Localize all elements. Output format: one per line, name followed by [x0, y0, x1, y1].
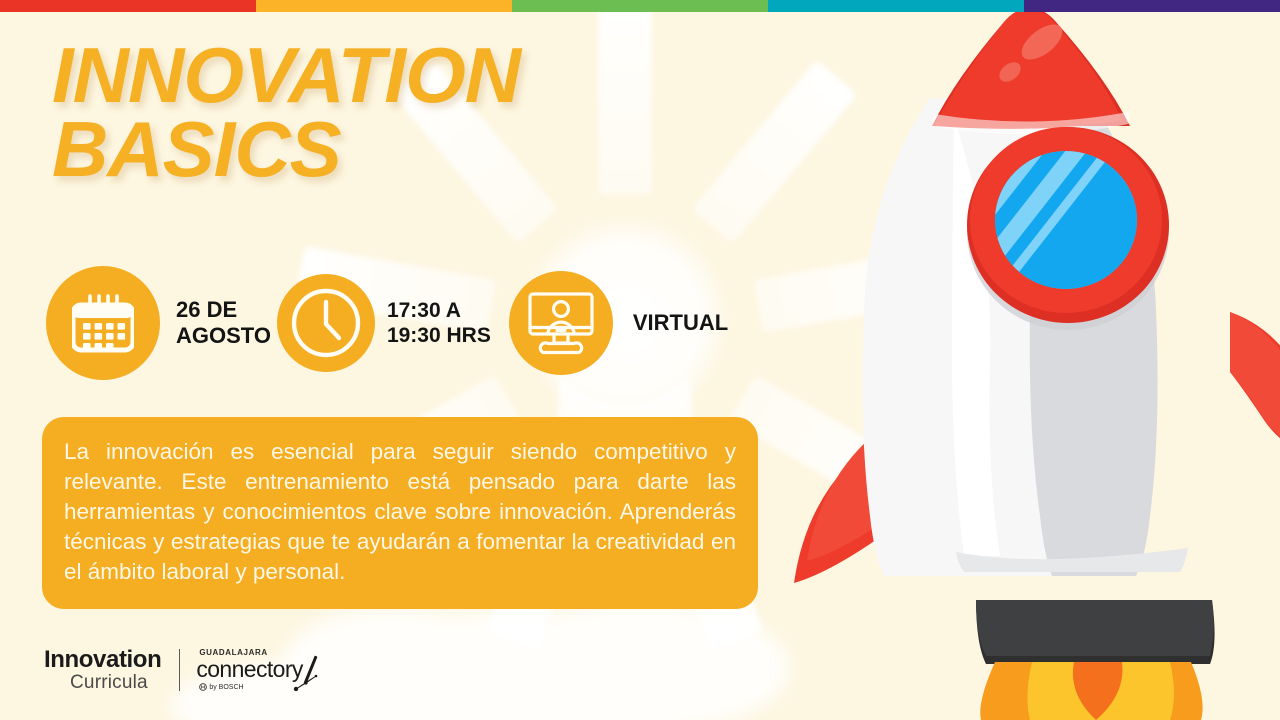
date-label-line-2: AGOSTO — [176, 323, 271, 349]
logo-connectory-network-icon — [293, 673, 319, 693]
event-info-row: 26 DE AGOSTO 17:30 A 19:30 HRS — [46, 266, 728, 380]
date-icon-badge — [46, 266, 160, 380]
bosch-mark-icon — [199, 683, 207, 691]
time-label-line-1: 17:30 A — [387, 298, 491, 323]
footer-logos: Innovation Curricula GUADALAJARA connect… — [44, 648, 303, 692]
info-item-date: 26 DE AGOSTO — [46, 266, 271, 380]
rocket-fin-right — [1230, 312, 1280, 460]
description-card: La innovación es esencial para seguir si… — [42, 417, 758, 609]
logo-divider — [179, 649, 180, 691]
logo-connectory-byline: by BOSCH — [209, 684, 243, 691]
topbar-segment-red — [0, 0, 256, 12]
page-title: INNOVATION BASICS — [52, 38, 520, 186]
topbar-segment-green — [512, 0, 768, 12]
info-item-time: 17:30 A 19:30 HRS — [277, 274, 491, 372]
topbar-segment-purple — [1024, 0, 1280, 12]
logo-innovation-curricula: Innovation Curricula — [44, 648, 161, 692]
rocket-nose-cone — [932, 8, 1130, 129]
modality-icon-badge — [509, 271, 613, 375]
logo-connectory-byline-row: by BOSCH — [199, 683, 303, 691]
time-icon-badge — [277, 274, 375, 372]
description-text: La innovación es esencial para seguir si… — [64, 437, 736, 587]
time-label: 17:30 A 19:30 HRS — [387, 298, 491, 348]
topbar-segment-teal — [768, 0, 1024, 12]
title-line-2: BASICS — [52, 112, 520, 186]
rocket-engine — [976, 600, 1215, 664]
modality-label: VIRTUAL — [633, 310, 728, 336]
time-label-line-2: 19:30 HRS — [387, 323, 491, 348]
monitor-person-icon — [527, 291, 595, 355]
rocket-illustration — [780, 0, 1280, 720]
poster-canvas: INNOVATION BASICS — [0, 0, 1280, 720]
logo-innovation-line-1: Innovation — [44, 648, 161, 672]
logo-connectory: GUADALAJARA connectory by BOSCH — [196, 649, 303, 691]
rocket-flame — [980, 662, 1202, 720]
date-label-line-1: 26 DE — [176, 297, 271, 323]
topbar-segment-orange — [256, 0, 512, 12]
top-color-bar — [0, 0, 1280, 12]
logo-connectory-name: connectory — [196, 658, 303, 681]
info-item-modality: VIRTUAL — [509, 271, 728, 375]
logo-innovation-line-2: Curricula — [70, 673, 161, 692]
calendar-icon — [72, 292, 134, 354]
clock-icon — [289, 286, 363, 360]
date-label: 26 DE AGOSTO — [176, 297, 271, 350]
